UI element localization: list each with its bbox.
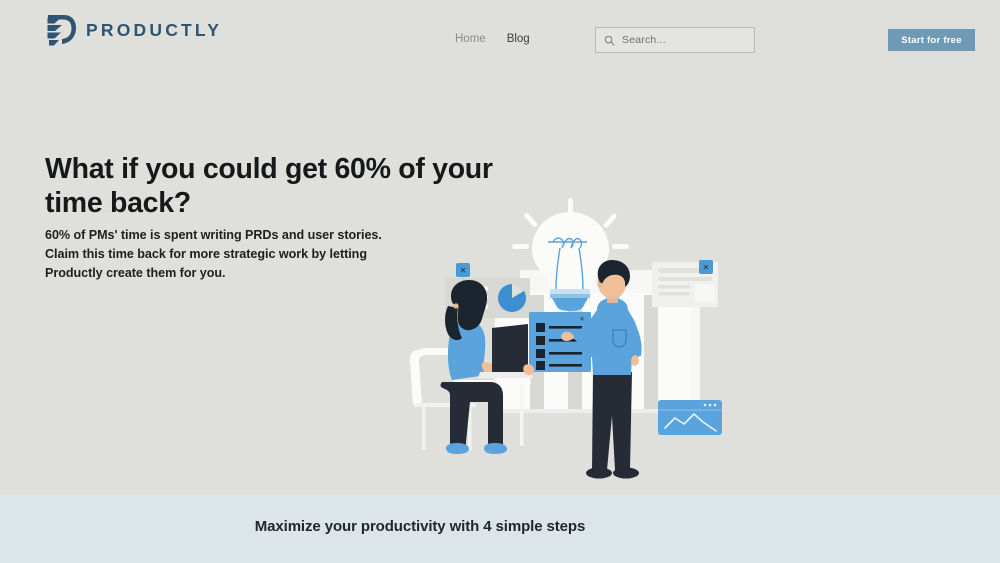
bottom-banner: Maximize your productivity with 4 simple… [0, 494, 1000, 563]
main-nav: Home Blog [455, 33, 530, 45]
nav-item-home[interactable]: Home [455, 33, 486, 45]
nav-item-blog[interactable]: Blog [507, 33, 530, 45]
search-input[interactable]: Search... [595, 27, 755, 53]
search-placeholder: Search... [622, 34, 666, 46]
team-collaboration-illustration-svg: ✕ ✕ ✕ [400, 190, 760, 490]
svg-text:✕: ✕ [579, 316, 584, 323]
brand-logo[interactable]: PRODUCTLY [44, 12, 222, 48]
line-chart-window [658, 400, 722, 435]
checklist-card: ✕ [529, 312, 591, 372]
search-icon [604, 35, 615, 46]
svg-text:✕: ✕ [460, 266, 467, 275]
site-header: PRODUCTLY Home Blog Search... Start for … [0, 0, 1000, 72]
svg-text:✕: ✕ [703, 263, 710, 272]
brand-name: PRODUCTLY [86, 20, 222, 41]
hero-subtitle: 60% of PMs' time is spent writing PRDs a… [45, 226, 395, 283]
hero-illustration: ✕ ✕ ✕ [400, 190, 760, 490]
start-for-free-button[interactable]: Start for free [888, 29, 975, 51]
banner-heading: Maximize your productivity with 4 simple… [0, 518, 840, 535]
document-card: ✕ [652, 260, 718, 307]
productly-chevron-logo-icon [44, 12, 78, 48]
